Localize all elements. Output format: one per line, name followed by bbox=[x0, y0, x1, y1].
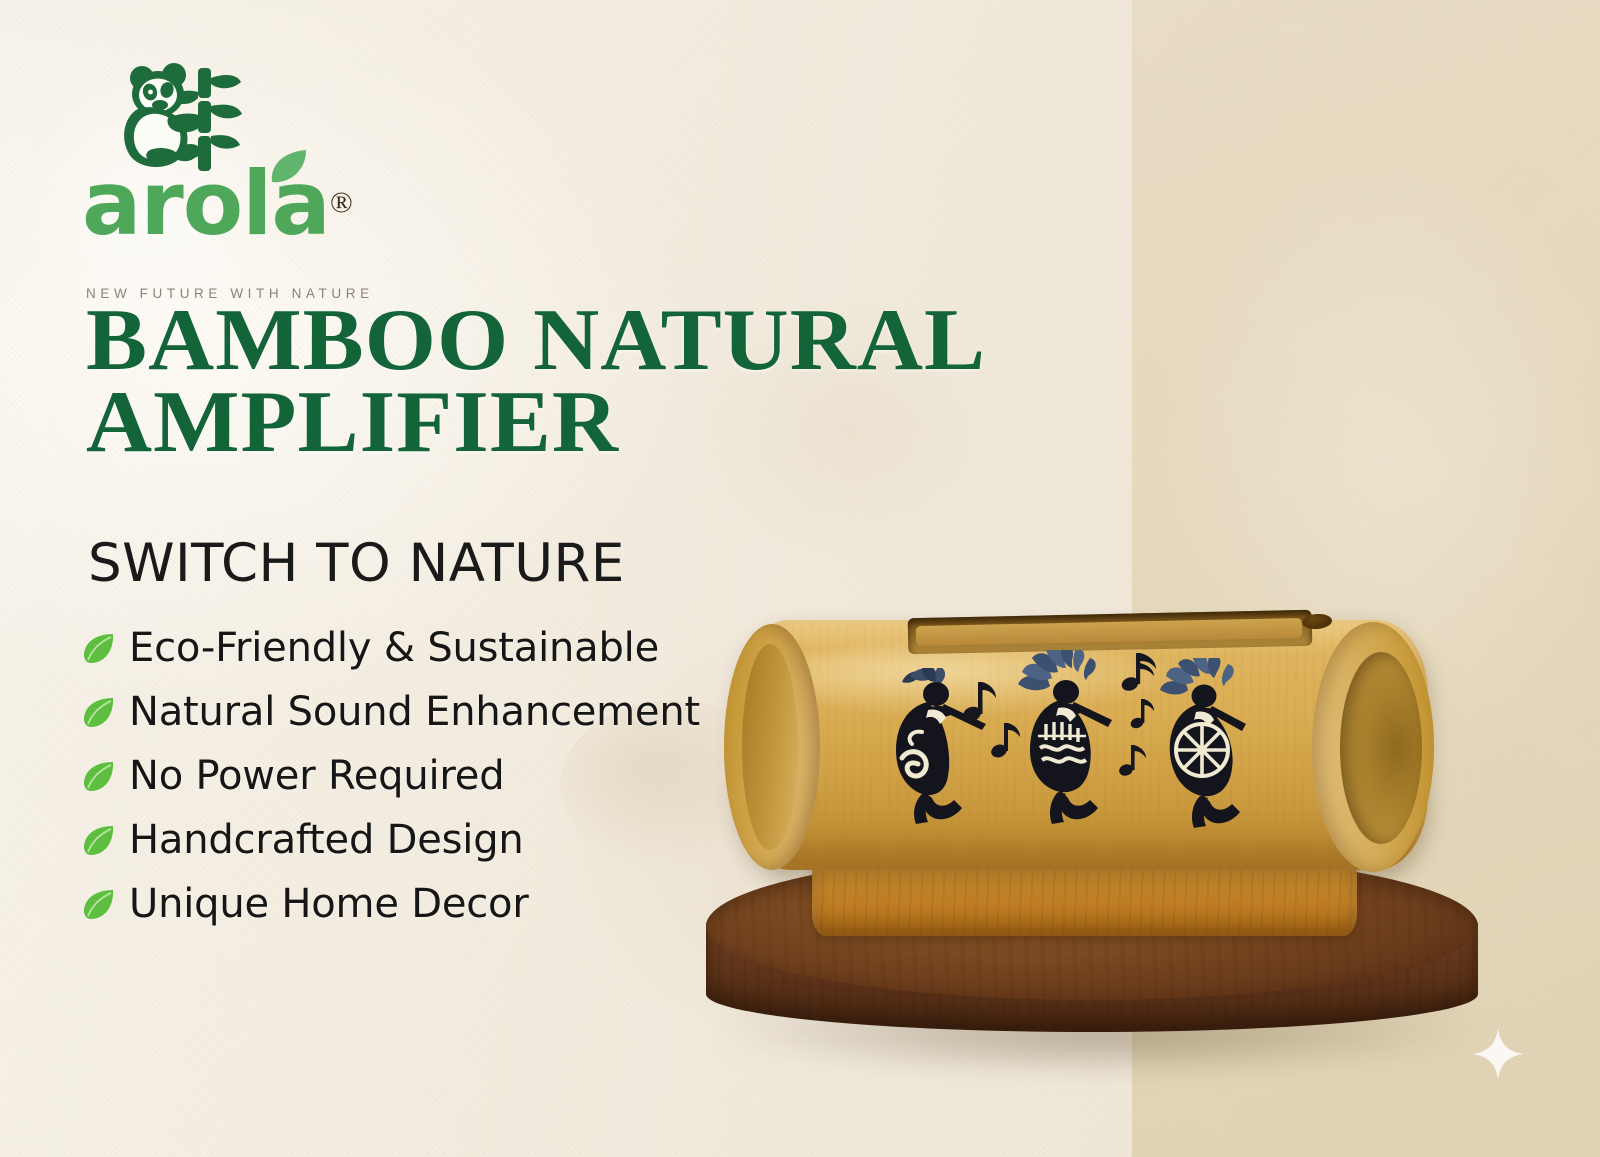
leaf-icon bbox=[82, 759, 116, 793]
music-note-icon bbox=[962, 678, 1002, 724]
registered-trademark-symbol: ® bbox=[330, 188, 353, 218]
feature-label: Unique Home Decor bbox=[129, 881, 529, 927]
feature-label: No Power Required bbox=[129, 753, 504, 799]
feature-label: Eco-Friendly & Sustainable bbox=[129, 625, 659, 671]
subtitle: SWITCH TO NATURE bbox=[88, 533, 625, 594]
kokopelli-figure-right bbox=[1148, 658, 1280, 836]
four-point-star-icon bbox=[1470, 1026, 1526, 1082]
brand-logo[interactable]: arola ® NEW FUTURE WITH NATURE bbox=[78, 62, 418, 252]
list-item: No Power Required bbox=[82, 744, 782, 808]
list-item: Natural Sound Enhancement bbox=[82, 680, 782, 744]
kokopelli-figure-center bbox=[1008, 650, 1138, 830]
leaf-icon bbox=[82, 887, 116, 921]
music-note-icon bbox=[990, 720, 1024, 760]
leaf-icon bbox=[82, 631, 116, 665]
leaf-icon bbox=[82, 823, 116, 857]
page-title: BAMBOO NATURAL AMPLIFIER bbox=[86, 300, 1084, 464]
music-note-icon bbox=[1130, 696, 1156, 730]
headline-line-2: AMPLIFIER bbox=[86, 382, 1084, 464]
feature-list: Eco-Friendly & Sustainable Natural Sound… bbox=[82, 616, 782, 936]
leaf-accent-icon bbox=[266, 146, 312, 192]
product-image[interactable] bbox=[690, 600, 1490, 1070]
list-item: Eco-Friendly & Sustainable bbox=[82, 616, 782, 680]
tube-left-end-inner bbox=[742, 644, 798, 850]
list-item: Unique Home Decor bbox=[82, 872, 782, 936]
music-note-icon bbox=[1118, 742, 1148, 778]
feature-label: Handcrafted Design bbox=[129, 817, 524, 863]
tube-right-opening bbox=[1340, 652, 1422, 844]
music-note-icon bbox=[1120, 650, 1160, 694]
leaf-icon bbox=[82, 695, 116, 729]
poster-canvas: arola ® NEW FUTURE WITH NATURE BAMBOO NA… bbox=[0, 0, 1600, 1157]
list-item: Handcrafted Design bbox=[82, 808, 782, 872]
feature-label: Natural Sound Enhancement bbox=[129, 689, 700, 735]
